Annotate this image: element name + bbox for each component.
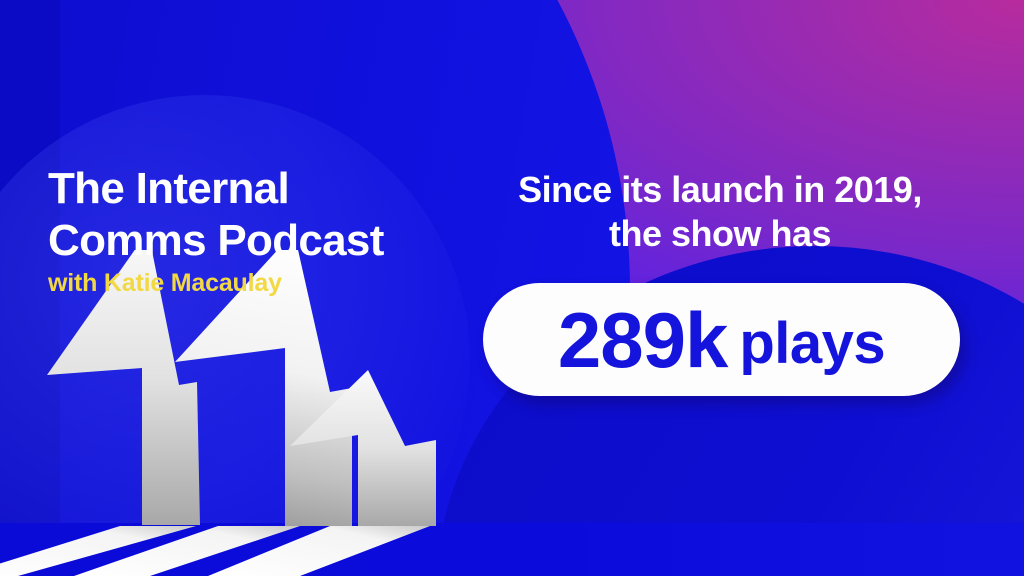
- podcast-host-subtitle: with Katie Macaulay: [48, 268, 468, 298]
- stat-badge: 289k plays: [483, 283, 960, 396]
- headline-line2: the show has: [470, 212, 970, 256]
- headline-line1: Since its launch in 2019,: [470, 168, 970, 212]
- arrow-trails: [0, 526, 430, 576]
- podcast-title-line1: The Internal: [48, 164, 289, 213]
- podcast-title-line2: Comms Podcast: [48, 215, 468, 267]
- headline: Since its launch in 2019, the show has: [470, 168, 970, 256]
- stat-value: 289k: [558, 301, 728, 379]
- promo-graphic: The Internal Comms Podcast with Katie Ma…: [0, 0, 1024, 576]
- stat-unit: plays: [739, 315, 885, 373]
- rising-arrows-icon: [0, 250, 520, 576]
- page-title: The Internal Comms Podcast: [48, 163, 468, 267]
